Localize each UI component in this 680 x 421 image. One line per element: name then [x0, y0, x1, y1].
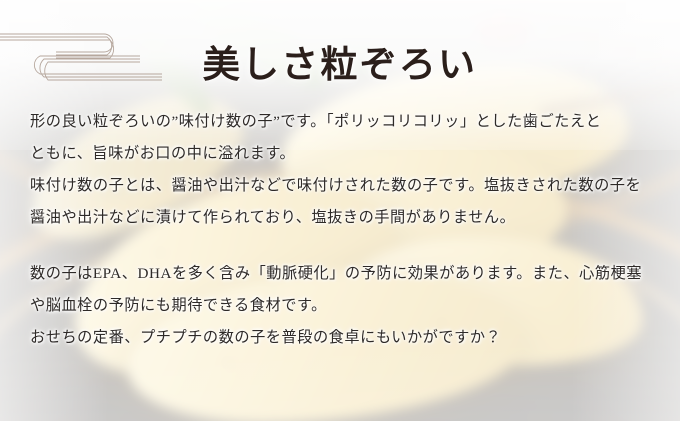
- page-title: 美しさ粒ぞろい: [0, 43, 680, 89]
- text-line: 形の良い粒ぞろいの”味付け数の子”です。「ポリッコリコリッ」とした歯ごたえと: [30, 106, 654, 138]
- product-description-banner: 美しさ粒ぞろい 形の良い粒ぞろいの”味付け数の子”です。「ポリッコリコリッ」とし…: [0, 0, 680, 421]
- text-line: 醤油や出汁などに漬けて作られており、塩抜きの手間がありません。: [30, 202, 654, 234]
- text-line: 味付け数の子とは、醤油や出汁などで味付けされた数の子です。塩抜きされた数の子を: [30, 170, 654, 202]
- text-line: おせちの定番、プチプチの数の子を普段の食卓にもいかがですか？: [30, 322, 654, 354]
- paragraph-3: 数の子はEPA、DHAを多く含み「動脈硬化」の予防に効果があります。また、心筋梗…: [30, 258, 654, 322]
- pepper-speck: [226, 361, 229, 364]
- text-line: 数の子はEPA、DHAを多く含み「動脈硬化」の予防に効果があります。また、心筋梗…: [30, 258, 654, 290]
- description-body: 形の良い粒ぞろいの”味付け数の子”です。「ポリッコリコリッ」とした歯ごたえと と…: [30, 106, 654, 354]
- paragraph-4: おせちの定番、プチプチの数の子を普段の食卓にもいかがですか？: [30, 322, 654, 354]
- paragraph-gap: [30, 234, 654, 258]
- text-line: ともに、旨味がお口の中に溢れます。: [30, 138, 654, 170]
- paragraph-2: 味付け数の子とは、醤油や出汁などで味付けされた数の子です。塩抜きされた数の子を …: [30, 170, 654, 234]
- paragraph-1: 形の良い粒ぞろいの”味付け数の子”です。「ポリッコリコリッ」とした歯ごたえと と…: [30, 106, 654, 170]
- text-line: や脳血栓の予防にも期待できる食材です。: [30, 290, 654, 322]
